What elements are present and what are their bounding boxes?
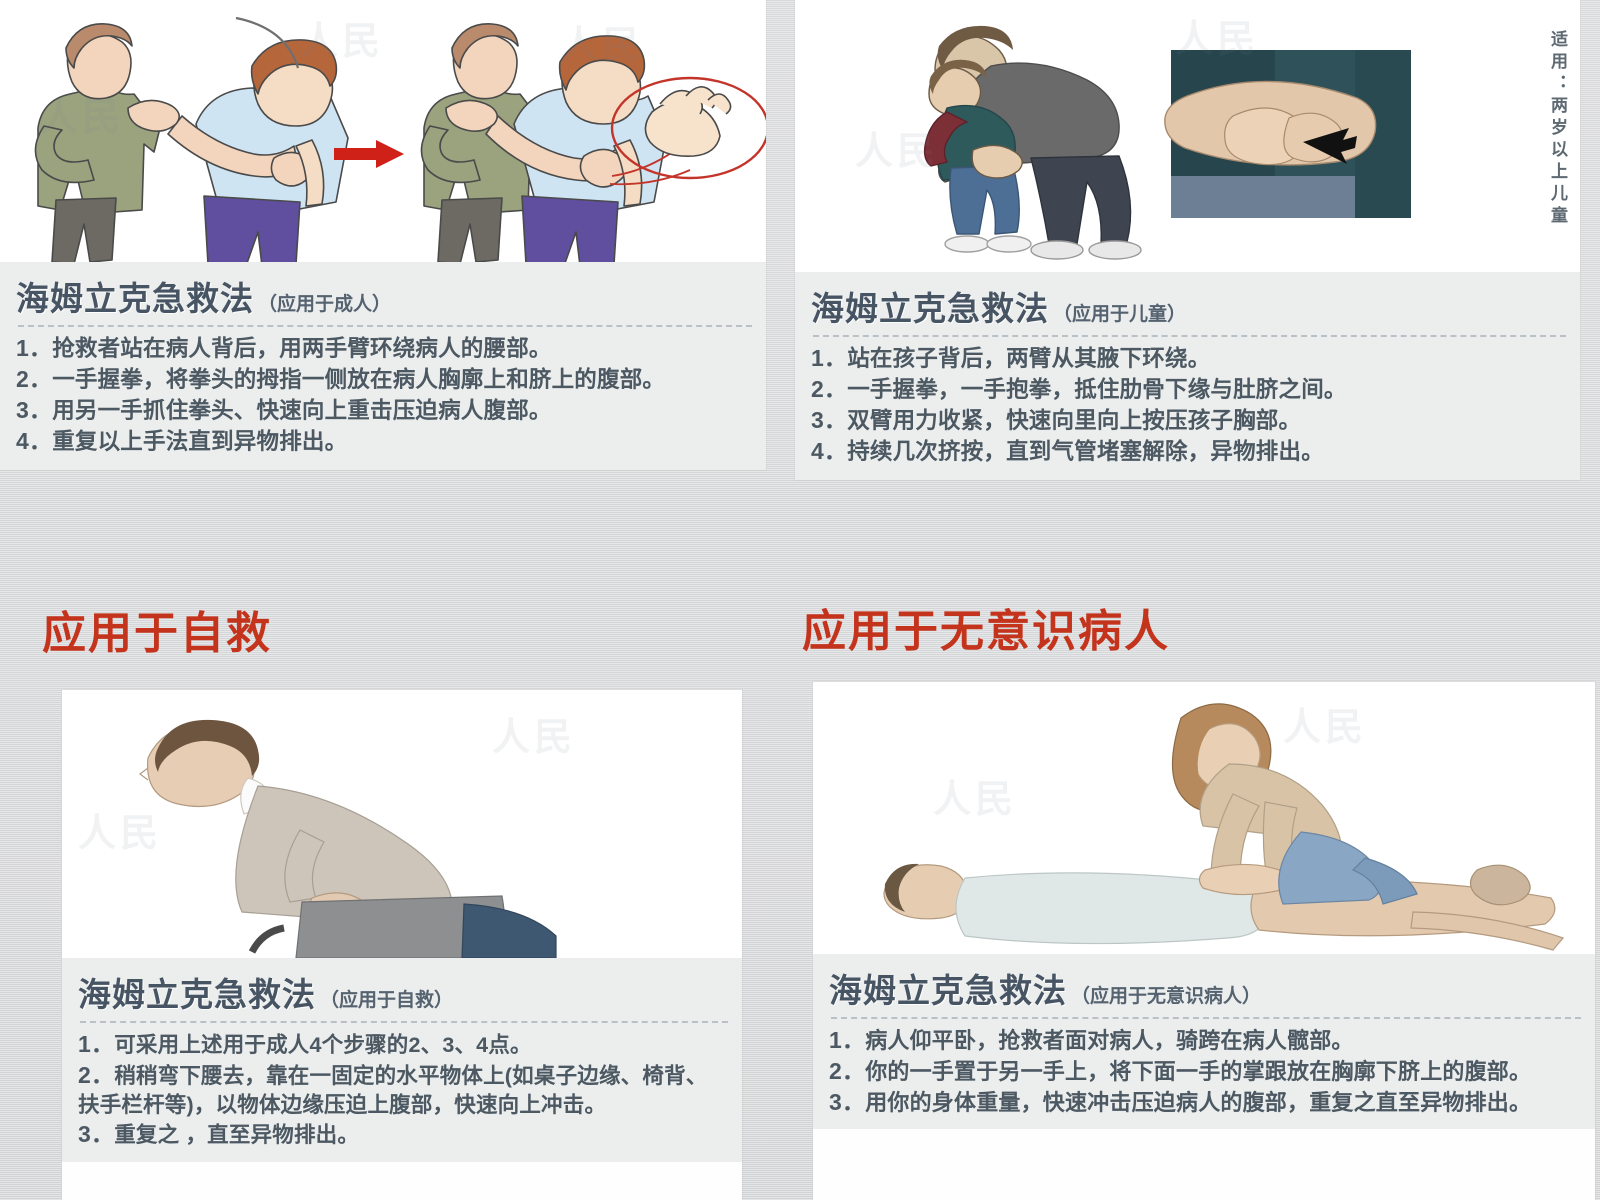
step-number: 2． <box>16 366 52 392</box>
step-number: 3． <box>16 397 52 423</box>
panel-unconscious: 应用于无意识病人 人民 人民 <box>795 596 1600 1200</box>
caption-adult: 海姆立克急救法 （应用于成人） 1．抢救者站在病人背后，用两手臂环绕病人的腰部。… <box>0 262 766 470</box>
list-item: 3．双臂用力收紧，快速向里向上按压孩子胸部。 <box>811 405 1566 436</box>
list-item: 3．用另一手抓住拳头、快速向上重击压迫病人腹部。 <box>16 395 752 426</box>
list-item: 1．站在孩子背后，两臂从其腋下环绕。 <box>811 343 1566 374</box>
step-text: 你的一手置于另一手上，将下面一手的掌跟放在胸廓下脐上的腹部。 <box>865 1059 1531 1084</box>
step-text: 病人仰平卧，抢救者面对病人，骑跨在病人髋部。 <box>865 1028 1353 1053</box>
caption-child: 海姆立克急救法 （应用于儿童） 1．站在孩子背后，两臂从其腋下环绕。 2．一手握… <box>795 272 1580 480</box>
inset-photo <box>1165 46 1415 222</box>
list-item: 2．你的一手置于另一手上，将下面一手的掌跟放在胸廓下脐上的腹部。 <box>829 1056 1581 1087</box>
step-list-child: 1．站在孩子背后，两臂从其腋下环绕。 2．一手握拳，一手抱拳，抵住肋骨下缘与肚脐… <box>811 343 1566 468</box>
illustration-child: 人民 人民 <box>795 0 1580 272</box>
step-number: 1． <box>811 345 847 371</box>
caption-subtitle: （应用于自救） <box>320 985 453 1012</box>
step-text: 可采用上述用于成人4个步骤的2、3、4点。 <box>114 1033 532 1057</box>
step-list-adult: 1．抢救者站在病人背后，用两手臂环绕病人的腰部。 2．一手握拳，将拳头的拇指一侧… <box>16 333 752 458</box>
divider <box>18 325 752 327</box>
step-text: 重复之 ，直至异物排出。 <box>114 1123 359 1147</box>
step-number: 3． <box>78 1121 114 1147</box>
unconscious-heimlich-svg <box>813 682 1595 954</box>
step-text: 一手握拳，将拳头的拇指一侧放在病人胸廓上和脐上的腹部。 <box>52 367 665 392</box>
vertical-note-child: 适用：两岁以上儿童 <box>1549 30 1566 228</box>
panel-title-self-rescue: 应用于自救 <box>42 612 272 656</box>
list-item: 1．可采用上述用于成人4个步骤的2、3、4点。 <box>78 1029 728 1060</box>
caption-heading-row: 海姆立克急救法 （应用于无意识病人） <box>829 964 1581 1012</box>
list-item: 4．重复以上手法直到异物排出。 <box>16 426 752 457</box>
panel-child: 应用于儿童 人民 人民 <box>795 0 1600 592</box>
step-text: 一手握拳，一手抱拳，抵住肋骨下缘与肚脐之间。 <box>847 377 1346 402</box>
step-number: 2． <box>829 1058 865 1084</box>
caption-subtitle: （应用于无意识病人） <box>1071 981 1261 1008</box>
step-text: 站在孩子背后，两臂从其腋下环绕。 <box>847 346 1210 371</box>
caption-subtitle: （应用于儿童） <box>1053 299 1186 326</box>
caption-unconscious: 海姆立克急救法 （应用于无意识病人） 1．病人仰平卧，抢救者面对病人，骑跨在病人… <box>813 954 1595 1129</box>
illustration-self-rescue: 人民 人民 <box>62 690 742 958</box>
illustration-adult: 人民 人民 人民 <box>0 0 766 262</box>
panel-title-unconscious: 应用于无意识病人 <box>802 610 1170 654</box>
caption-heading-row: 海姆立克急救法 （应用于自救） <box>78 968 728 1016</box>
step-number: 4． <box>811 438 847 464</box>
card-child: 人民 人民 <box>795 0 1580 480</box>
step-number: 4． <box>16 428 52 454</box>
step-number: 3． <box>829 1089 865 1115</box>
caption-heading: 海姆立克急救法 <box>16 272 254 320</box>
card-unconscious: 人民 人民 <box>813 682 1595 1200</box>
caption-heading: 海姆立克急救法 <box>829 964 1067 1012</box>
step-text: 用另一手抓住拳头、快速向上重击压迫病人腹部。 <box>52 398 551 423</box>
list-item: 4．持续几次挤按，直到气管堵塞解除，异物排出。 <box>811 436 1566 467</box>
card-adult: 人民 人民 人民 <box>0 0 766 470</box>
panel-adult: 应用于成人 人民 人民 人民 <box>0 0 790 592</box>
list-item: 2．一手握拳，一手抱拳，抵住肋骨下缘与肚脐之间。 <box>811 374 1566 405</box>
divider <box>813 335 1566 337</box>
heimlich-child-svg <box>795 0 1580 272</box>
divider <box>831 1017 1581 1019</box>
step-list-self-rescue: 1．可采用上述用于成人4个步骤的2、3、4点。 2．稍稍弯下腰去，靠在一固定的水… <box>78 1029 728 1150</box>
divider <box>80 1021 728 1023</box>
list-item: 3．用你的身体重量，快速冲击压迫病人的腹部，重复之直至异物排出。 <box>829 1087 1581 1118</box>
heimlich-adult-svg <box>0 0 766 262</box>
self-heimlich-svg <box>62 690 742 958</box>
caption-heading-row: 海姆立克急救法 （应用于成人） <box>16 272 752 320</box>
step-number: 3． <box>811 407 847 433</box>
panel-self-rescue: 应用于自救 人民 人民 <box>0 596 790 1200</box>
caption-heading: 海姆立克急救法 <box>811 282 1049 330</box>
list-item: 2．稍稍弯下腰去，靠在一固定的水平物体上(如桌子边缘、椅背、扶手栏杆等)，以物体… <box>78 1060 728 1120</box>
illustration-unconscious: 人民 人民 <box>813 682 1595 954</box>
list-item: 1．病人仰平卧，抢救者面对病人，骑跨在病人髋部。 <box>829 1025 1581 1056</box>
step-text: 用你的身体重量，快速冲击压迫病人的腹部，重复之直至异物排出。 <box>865 1090 1531 1115</box>
caption-heading: 海姆立克急救法 <box>78 968 316 1016</box>
step-text: 抢救者站在病人背后，用两手臂环绕病人的腰部。 <box>52 336 551 361</box>
list-item: 3．重复之 ，直至异物排出。 <box>78 1119 728 1150</box>
caption-subtitle: （应用于成人） <box>258 289 391 316</box>
list-item: 2．一手握拳，将拳头的拇指一侧放在病人胸廓上和脐上的腹部。 <box>16 364 752 395</box>
step-text: 重复以上手法直到异物排出。 <box>52 429 347 454</box>
card-self-rescue: 人民 人民 <box>62 690 742 1200</box>
step-text: 稍稍弯下腰去，靠在一固定的水平物体上(如桌子边缘、椅背、扶手栏杆等)，以物体边缘… <box>78 1064 707 1117</box>
step-number: 1． <box>78 1031 114 1057</box>
poster-canvas: 应用于成人 人民 人民 人民 <box>0 0 1600 1200</box>
step-text: 持续几次挤按，直到气管堵塞解除，异物排出。 <box>847 439 1324 464</box>
step-number: 1． <box>16 335 52 361</box>
list-item: 1．抢救者站在病人背后，用两手臂环绕病人的腰部。 <box>16 333 752 364</box>
step-number: 1． <box>829 1027 865 1053</box>
caption-self-rescue: 海姆立克急救法 （应用于自救） 1．可采用上述用于成人4个步骤的2、3、4点。 … <box>62 958 742 1162</box>
caption-heading-row: 海姆立克急救法 （应用于儿童） <box>811 282 1566 330</box>
step-number: 2． <box>78 1062 114 1088</box>
step-text: 双臂用力收紧，快速向里向上按压孩子胸部。 <box>847 408 1301 433</box>
step-list-unconscious: 1．病人仰平卧，抢救者面对病人，骑跨在病人髋部。 2．你的一手置于另一手上，将下… <box>829 1025 1581 1117</box>
step-number: 2． <box>811 376 847 402</box>
